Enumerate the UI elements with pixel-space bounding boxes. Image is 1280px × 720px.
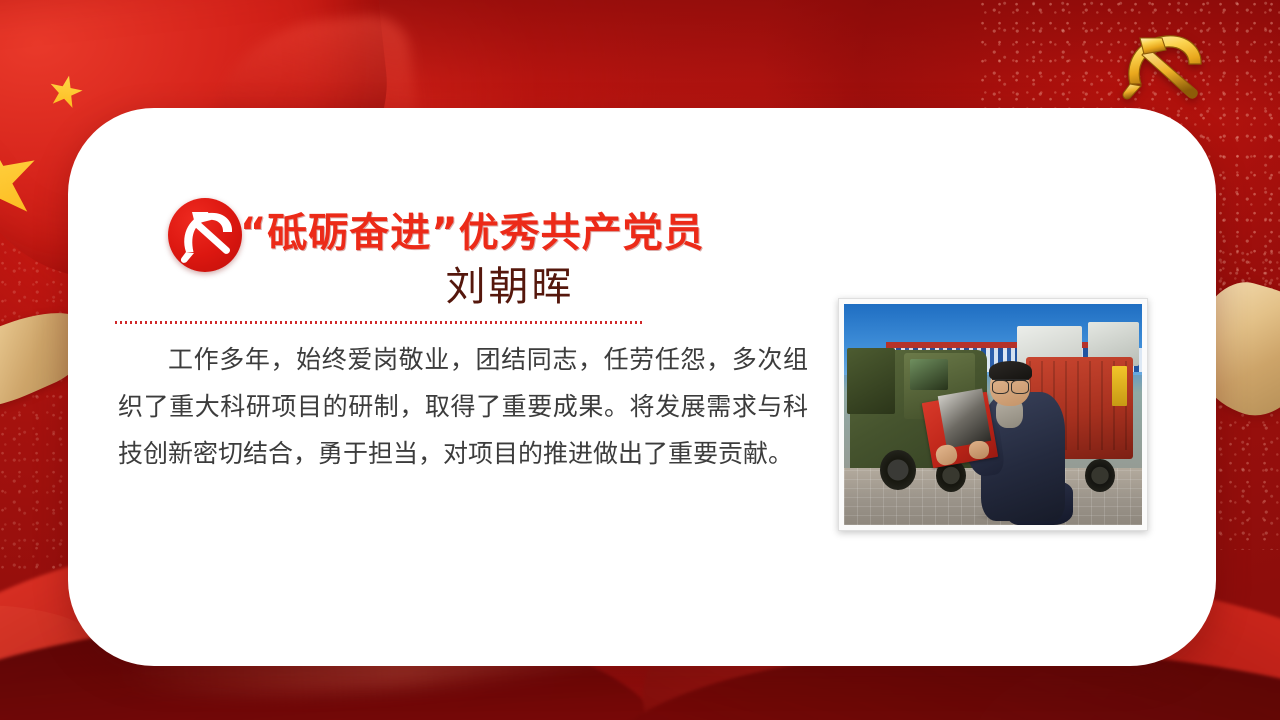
photo-person-hand-right [969, 441, 988, 459]
body-paragraph: 工作多年，始终爱岗敬业，团结同志，任劳任怨，多次组织了重大科研项目的研制，取得了… [118, 336, 808, 477]
page-title: “砥砺奋进”优秀共产党员 [240, 200, 780, 258]
photo-truck-windshield [910, 359, 949, 390]
photo-wheel-3 [1085, 459, 1115, 492]
photo-book-cover-image [938, 389, 991, 449]
photo-wheel-1 [880, 450, 916, 490]
star-large [0, 130, 46, 232]
dotted-divider [115, 321, 643, 324]
star-1 [45, 72, 85, 112]
content-card: “砥砺奋进”优秀共产党员 刘朝晖 工作多年，始终爱岗敬业，团结同志，任劳任怨，多… [68, 108, 1216, 666]
gold-hammer-sickle-icon [1104, 24, 1232, 106]
photo-person-glasses [992, 379, 1029, 388]
person-photo [838, 298, 1148, 531]
photo-truck-cargo-box [847, 348, 895, 414]
person-name: 刘朝晖 [240, 254, 780, 312]
hammer-sickle-icon [168, 198, 242, 272]
photo-yellow-bracket [1112, 366, 1127, 406]
slide-root: “砥砺奋进”优秀共产党员 刘朝晖 工作多年，始终爱岗敬业，团结同志，任劳任怨，多… [0, 0, 1280, 720]
photo-image [844, 304, 1142, 525]
